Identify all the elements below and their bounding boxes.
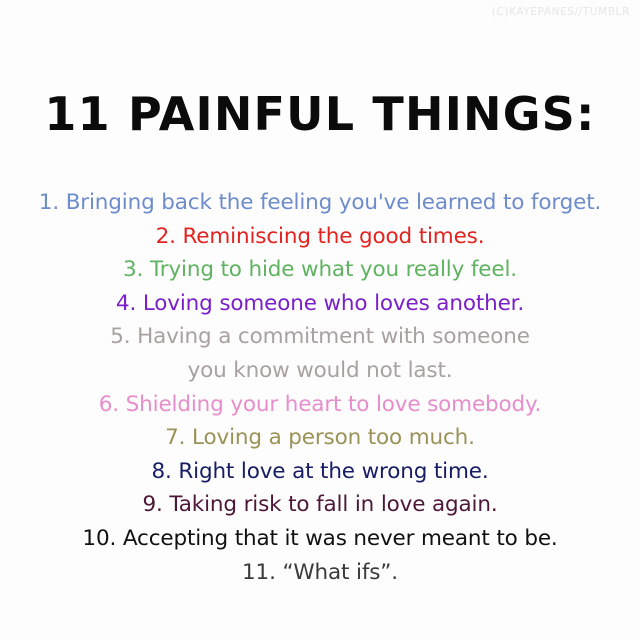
- painful-things-list: 1. Bringing back the feeling you've lear…: [0, 186, 640, 589]
- list-item: 4. Loving someone who loves another.: [0, 287, 640, 321]
- list-item: 7. Loving a person too much.: [0, 421, 640, 455]
- page-title: 11 PAINFUL THINGS:: [0, 87, 640, 141]
- list-item: 9. Taking risk to fall in love again.: [0, 488, 640, 522]
- watermark-credit: (C)KAYEPANES//TUMBLR: [492, 6, 630, 18]
- list-item: 1. Bringing back the feeling you've lear…: [0, 186, 640, 220]
- list-item: 6. Shielding your heart to love somebody…: [0, 388, 640, 422]
- list-item: 11. “What ifs”.: [0, 556, 640, 590]
- poster-canvas: (C)KAYEPANES//TUMBLR 11 PAINFUL THINGS: …: [0, 0, 640, 640]
- list-item: 2. Reminiscing the good times.: [0, 220, 640, 254]
- list-item: 8. Right love at the wrong time.: [0, 455, 640, 489]
- list-item: 3. Trying to hide what you really feel.: [0, 253, 640, 287]
- list-item: 10. Accepting that it was never meant to…: [0, 522, 640, 556]
- list-item: 5. Having a commitment with someone you …: [0, 320, 640, 387]
